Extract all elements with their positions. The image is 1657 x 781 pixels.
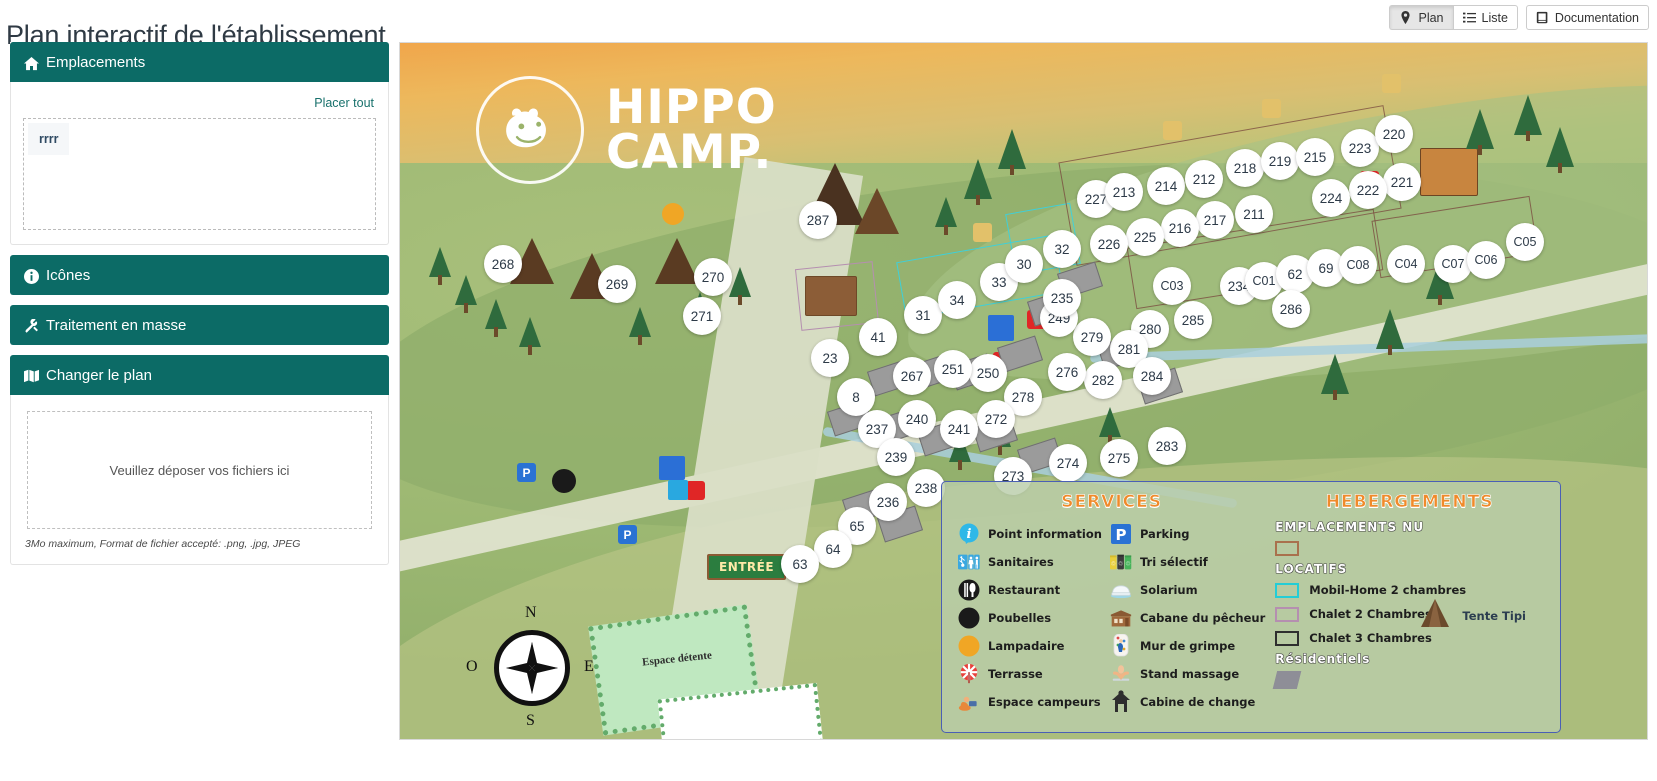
restroom-icon <box>958 551 980 573</box>
legend-services: SERVICES iPoint informationPParkingSanit… <box>958 492 1265 722</box>
plot-marker[interactable]: 212 <box>1185 160 1223 198</box>
legend-color-swatch <box>1275 583 1299 598</box>
climbing-wall-icon <box>1110 635 1132 657</box>
parking-icon: P <box>618 525 637 544</box>
home-icon <box>24 56 37 69</box>
map-legend: SERVICES iPoint informationPParkingSanit… <box>941 481 1561 733</box>
plot-marker[interactable]: 220 <box>1375 115 1413 153</box>
parking-icon: P <box>1110 523 1132 545</box>
legend-hebergement-heading: EMPLACEMENTS NU <box>1275 520 1544 534</box>
plot-marker[interactable]: C04 <box>1387 245 1425 283</box>
trash-marker <box>552 469 576 493</box>
map-canvas: HIPPO CAMP. <box>400 43 1647 739</box>
legend-service-label: Stand massage <box>1140 667 1239 681</box>
plot-marker[interactable]: 241 <box>940 410 978 448</box>
documentation-button[interactable]: Documentation <box>1526 5 1649 30</box>
camp-logo-text: HIPPO CAMP. <box>606 85 777 175</box>
legend-hebergement-label: Mobil-Home 2 chambres <box>1309 583 1466 597</box>
legend-service-item: Espace campeurs <box>958 688 1102 715</box>
legend-service-item: Poubelles <box>958 604 1102 631</box>
legend-service-item: Cabane du pêcheur <box>1110 604 1265 631</box>
panel-traitement-en-masse: Traitement en masse <box>10 305 389 345</box>
panel-icones: Icônes <box>10 255 389 295</box>
svg-text:i: i <box>967 527 972 542</box>
legend-hebergements: HEBERGEMENTS EMPLACEMENTS NULOCATIFSMobi… <box>1275 492 1544 722</box>
plot-marker[interactable]: 213 <box>1105 173 1143 211</box>
book-icon <box>1536 11 1549 24</box>
plot-marker[interactable]: 30 <box>1005 245 1043 283</box>
legend-service-label: Espace campeurs <box>988 695 1101 709</box>
legend-service-item: Solarium <box>1110 576 1265 603</box>
camper-icon <box>958 691 980 713</box>
list-icon <box>1463 11 1476 24</box>
tools-icon <box>24 319 37 332</box>
street-lamp-icon <box>958 635 980 657</box>
map-pin-icon <box>1399 11 1412 24</box>
legend-hebergement-label: Chalet 2 Chambres <box>1309 607 1432 621</box>
camper-pin-icon <box>1163 121 1182 140</box>
view-toggle-group: Plan Liste <box>1389 5 1517 30</box>
plot-marker[interactable]: 283 <box>1148 427 1186 465</box>
legend-service-label: Point information <box>988 527 1102 541</box>
plot-marker[interactable]: 235 <box>1043 279 1081 317</box>
tipi-structure <box>855 188 899 234</box>
legend-service-label: Terrasse <box>988 667 1043 681</box>
legend-hebergement-heading: LOCATIFS <box>1275 562 1544 576</box>
fire-extinguisher-icon <box>686 481 705 500</box>
legend-service-label: Solarium <box>1140 583 1198 597</box>
street-lamp-marker <box>662 203 684 225</box>
plot-marker[interactable]: 238 <box>907 469 945 507</box>
place-all-row: Placer tout <box>23 92 376 118</box>
unplaced-emplacements-dropzone[interactable]: rrrr <box>23 118 376 230</box>
plot-marker[interactable]: 269 <box>598 265 636 303</box>
plot-marker[interactable]: 251 <box>934 350 972 388</box>
compass-west-label: O <box>466 658 478 676</box>
plot-marker[interactable]: 285 <box>1174 301 1212 339</box>
legend-color-swatch <box>1275 541 1299 556</box>
legend-service-label: Poubelles <box>988 611 1051 625</box>
plot-marker[interactable]: 279 <box>1073 318 1111 356</box>
plot-marker[interactable]: 32 <box>1043 230 1081 268</box>
panel-changer-le-plan: Changer le plan Veuillez déposer vos fic… <box>10 355 389 565</box>
plot-marker[interactable]: 23 <box>811 339 849 377</box>
recycling-bins-icon: ♲♲♲ <box>1110 551 1132 573</box>
map-book-icon <box>24 369 37 382</box>
sanitaires-icon <box>988 315 1014 341</box>
sidebar: Emplacements Placer tout rrrr Icônes <box>10 42 389 575</box>
sanitaires-icon <box>659 456 685 480</box>
plot-marker[interactable]: 31 <box>904 296 942 334</box>
legend-color-swatch <box>1273 671 1301 689</box>
panel-header-emplacements[interactable]: Emplacements <box>10 42 389 82</box>
plot-marker[interactable]: 226 <box>1090 225 1128 263</box>
legend-color-swatch <box>1275 631 1299 646</box>
legend-service-item: Stand massage <box>1110 660 1265 687</box>
plot-marker[interactable]: 240 <box>898 400 936 438</box>
plot-marker[interactable]: 63 <box>781 545 819 583</box>
plot-marker[interactable]: C07 <box>1434 245 1472 283</box>
legend-service-label: Cabane du pêcheur <box>1140 611 1265 625</box>
legend-tipi-item: Tente Tipi <box>1418 598 1526 633</box>
panel-header-icones[interactable]: Icônes <box>10 255 389 295</box>
plot-marker[interactable]: 215 <box>1296 138 1334 176</box>
legend-hebergement-item <box>1275 536 1544 560</box>
svg-text:♲: ♲ <box>1125 560 1130 567</box>
plot-marker[interactable]: 287 <box>799 201 837 239</box>
view-liste-button[interactable]: Liste <box>1453 5 1518 30</box>
plot-marker[interactable]: 270 <box>694 258 732 296</box>
plot-marker[interactable]: 34 <box>938 281 976 319</box>
legend-service-item: iPoint information <box>958 520 1102 547</box>
plot-marker[interactable]: 275 <box>1100 439 1138 477</box>
legend-service-label: Lampadaire <box>988 639 1064 653</box>
legend-services-grid: iPoint informationPParkingSanitaires♲♲♲T… <box>958 520 1265 715</box>
panel-label-icones: Icônes <box>46 267 90 284</box>
plot-marker[interactable]: 271 <box>683 297 721 335</box>
plot-marker[interactable]: 239 <box>877 438 915 476</box>
compass-star-icon <box>506 642 558 694</box>
legend-service-label: Cabine de change <box>1140 695 1255 709</box>
legend-services-title: SERVICES <box>958 492 1265 512</box>
view-plan-button[interactable]: Plan <box>1389 5 1452 30</box>
compass-east-label: E <box>584 658 594 676</box>
legend-service-item: ♲♲♲Tri sélectif <box>1110 548 1265 575</box>
camp-logo-line1: HIPPO <box>606 85 777 130</box>
compass-north-label: N <box>525 604 537 622</box>
trash-dot-icon <box>958 607 980 629</box>
documentation-label: Documentation <box>1555 11 1639 25</box>
changing-cabin-icon <box>1110 691 1132 713</box>
parasol-icon <box>958 663 980 685</box>
compass-south-label: S <box>526 712 535 730</box>
view-liste-label: Liste <box>1482 11 1508 25</box>
svg-text:♲: ♲ <box>1118 560 1123 567</box>
place-all-link[interactable]: Placer tout <box>314 96 374 110</box>
plot-marker[interactable]: 223 <box>1341 129 1379 167</box>
legend-service-label: Mur de grimpe <box>1140 639 1235 653</box>
legend-service-label: Tri sélectif <box>1140 555 1208 569</box>
fisherman-hut-icon <box>1110 607 1132 629</box>
plot-marker[interactable]: 268 <box>484 245 522 283</box>
plot-marker[interactable]: C08 <box>1339 246 1377 284</box>
plot-marker[interactable]: 224 <box>1312 179 1350 217</box>
plot-marker[interactable]: 216 <box>1161 209 1199 247</box>
plot-marker[interactable]: 211 <box>1235 195 1273 233</box>
legend-hebergement-heading: Résidentiels <box>1275 652 1544 666</box>
info-icon <box>24 269 37 282</box>
plot-marker[interactable]: 286 <box>1272 290 1310 328</box>
chalet-building <box>1420 148 1478 196</box>
panel-header-changer-plan[interactable]: Changer le plan <box>10 355 389 395</box>
legend-color-swatch <box>1275 607 1299 622</box>
legend-service-item: Restaurant <box>958 576 1102 603</box>
camper-pin-icon <box>1382 74 1401 93</box>
camper-pin-icon <box>973 223 992 242</box>
legend-tipi-label: Tente Tipi <box>1462 609 1526 623</box>
info-point-icon <box>668 480 688 500</box>
interactive-map[interactable]: HIPPO CAMP. <box>399 42 1648 740</box>
legend-service-item: PParking <box>1110 520 1265 547</box>
massage-stand-icon <box>1110 663 1132 685</box>
compass-rose: N S O E <box>472 608 592 728</box>
legend-service-label: Restaurant <box>988 583 1060 597</box>
legend-service-item: Mur de grimpe <box>1110 632 1265 659</box>
topbar-actions: Plan Liste <box>1389 5 1649 30</box>
parking-icon: P <box>517 463 536 482</box>
plot-marker[interactable]: 272 <box>977 400 1015 438</box>
panel-header-traitement[interactable]: Traitement en masse <box>10 305 389 345</box>
info-bubble-icon: i <box>958 523 980 545</box>
plot-marker[interactable]: 217 <box>1196 201 1234 239</box>
plot-marker[interactable]: 284 <box>1133 357 1171 395</box>
plot-marker[interactable]: C03 <box>1153 267 1191 305</box>
legend-service-item: Cabine de change <box>1110 688 1265 715</box>
file-dropzone-label: Veuillez déposer vos fichiers ici <box>110 463 290 478</box>
tipi-icon <box>1418 598 1452 633</box>
legend-hebergements-title: HEBERGEMENTS <box>1275 492 1544 512</box>
view-plan-label: Plan <box>1418 11 1443 25</box>
plot-marker[interactable]: C05 <box>1506 223 1544 261</box>
plot-marker[interactable]: 221 <box>1383 163 1421 201</box>
plot-marker[interactable]: C06 <box>1467 241 1505 279</box>
panel-body-changer-plan: Veuillez déposer vos fichiers ici 3Mo ma… <box>10 395 389 565</box>
plot-marker[interactable]: 222 <box>1349 171 1387 209</box>
plot-marker[interactable]: 219 <box>1261 142 1299 180</box>
legend-service-label: Sanitaires <box>988 555 1054 569</box>
camp-logo-line2: CAMP. <box>606 130 777 175</box>
plot-marker[interactable]: 214 <box>1147 167 1185 205</box>
solarium-icon <box>1110 579 1132 601</box>
page-root: Plan interactif de l'établissement Plan … <box>0 0 1657 781</box>
plot-marker[interactable]: 236 <box>869 483 907 521</box>
plot-marker[interactable]: 267 <box>893 357 931 395</box>
legend-hebergement-item <box>1275 668 1544 692</box>
panel-emplacements: Emplacements Placer tout rrrr <box>10 42 389 245</box>
legend-hebergement-label: Chalet 3 Chambres <box>1309 631 1432 645</box>
legend-service-item: Terrasse <box>958 660 1102 687</box>
legend-service-item: Sanitaires <box>958 548 1102 575</box>
plot-marker[interactable]: 41 <box>859 318 897 356</box>
svg-text:P: P <box>1115 526 1126 544</box>
entree-sign: ENTRÉE <box>707 554 786 580</box>
file-dropzone[interactable]: Veuillez déposer vos fichiers ici <box>27 411 372 529</box>
camp-logo: HIPPO CAMP. <box>476 76 777 184</box>
plot-marker[interactable]: 225 <box>1126 218 1164 256</box>
plot-marker[interactable]: 64 <box>814 530 852 568</box>
plot-marker[interactable]: 282 <box>1084 361 1122 399</box>
svg-text:♲: ♲ <box>1111 560 1116 567</box>
panel-label-emplacements: Emplacements <box>46 54 145 71</box>
camper-pin-icon <box>1262 99 1281 118</box>
tipi-structure <box>655 238 699 284</box>
emplacement-chip[interactable]: rrrr <box>28 123 69 155</box>
file-format-note: 3Mo maximum, Format de fichier accepté: … <box>25 538 374 550</box>
plot-marker[interactable]: 276 <box>1048 353 1086 391</box>
legend-service-item: Lampadaire <box>958 632 1102 659</box>
panel-body-emplacements: Placer tout rrrr <box>10 82 389 245</box>
plot-marker[interactable]: 250 <box>969 354 1007 392</box>
plot-marker[interactable]: 218 <box>1226 149 1264 187</box>
legend-service-label: Parking <box>1140 527 1190 541</box>
panel-label-traitement: Traitement en masse <box>46 317 186 334</box>
hippo-icon <box>476 76 584 184</box>
panel-label-changer-plan: Changer le plan <box>46 367 152 384</box>
plot-marker[interactable]: 274 <box>1049 444 1087 482</box>
restaurant-icon <box>958 579 980 601</box>
